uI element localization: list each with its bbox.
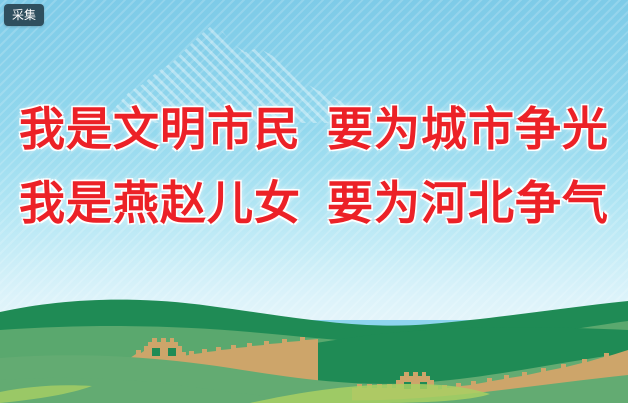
capture-button[interactable]: 采集	[4, 4, 44, 26]
banner-screenshot: 我是文明市民要为城市争光 我是燕赵儿女要为河北争气	[0, 0, 628, 403]
landscape-scene	[0, 280, 628, 403]
sky-background	[0, 0, 628, 320]
